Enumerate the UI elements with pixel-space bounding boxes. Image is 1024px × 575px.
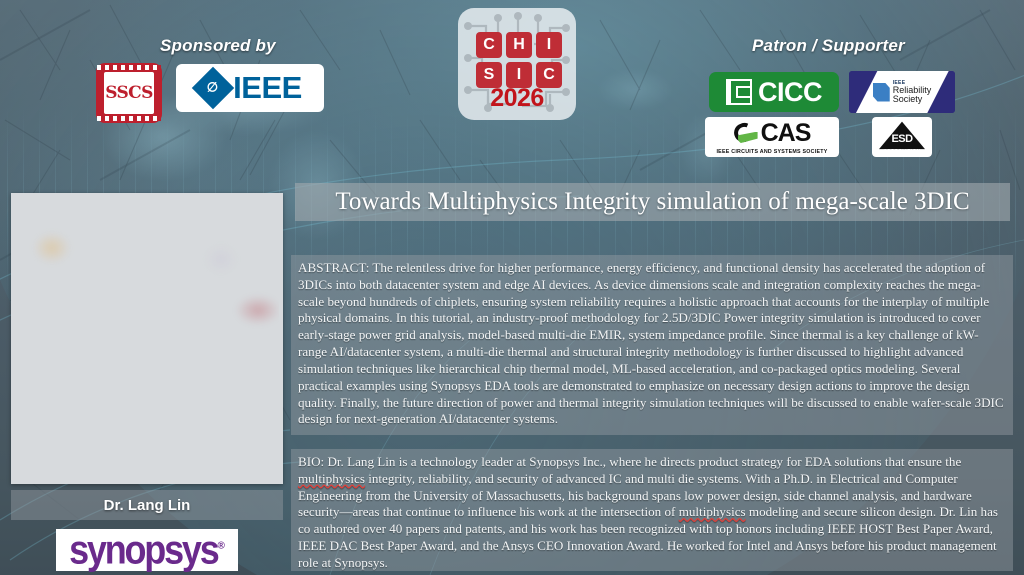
reliability-mark-icon	[873, 83, 890, 102]
abstract-label: ABSTRACT:	[298, 260, 369, 275]
sscs-logo-text: SSCS	[105, 83, 153, 103]
cas-logo-subtitle: IEEE CIRCUITS AND SYSTEMS SOCIETY	[716, 149, 827, 155]
reliability-line2: Society	[893, 95, 932, 104]
ieee-cas-logo[interactable]: CAS IEEE CIRCUITS AND SYSTEMS SOCIETY	[705, 117, 839, 157]
talk-title-bar: Towards Multiphysics Integrity simulatio…	[295, 183, 1010, 221]
esd-logo-text: ESD	[879, 133, 925, 145]
speaker-photo-frame	[11, 193, 283, 484]
speaker-name: Dr. Lang Lin	[104, 497, 191, 514]
reliability-logo-body: IEEE Reliability Society	[873, 81, 932, 104]
sponsored-by-label: Sponsored by	[160, 36, 276, 56]
poster-header: Sponsored by Patron / Supporter SSCS ∅ I…	[0, 0, 1024, 175]
esd-logo-subtitle: ASSOCIATION	[879, 148, 925, 153]
abstract-panel: ABSTRACT: The relentless drive for highe…	[291, 255, 1013, 435]
chisic-event-logo[interactable]: C H I S I C 2026	[458, 8, 576, 120]
sscs-inner: SSCS	[104, 72, 154, 114]
ieee-logo-text: IEEE	[233, 70, 302, 106]
synopsys-logo[interactable]: synopsys®	[56, 529, 238, 571]
bio-panel: BIO: Dr. Lang Lin is a technology leader…	[291, 449, 1013, 571]
synopsys-logo-text: synopsys	[69, 526, 217, 572]
cas-mark-icon	[734, 123, 758, 145]
chisic-letter: I	[536, 32, 562, 58]
conference-talk-poster: Sponsored by Patron / Supporter SSCS ∅ I…	[0, 0, 1024, 575]
speaker-nameplate: Dr. Lang Lin	[11, 490, 283, 520]
abstract-body: The relentless drive for higher performa…	[298, 260, 1004, 426]
cicc-logo-text: CICC	[758, 77, 822, 108]
page-title: Towards Multiphysics Integrity simulatio…	[335, 188, 969, 216]
sscs-logo[interactable]: SSCS	[95, 62, 163, 124]
chisic-letter: C	[476, 32, 502, 58]
chisic-letter-grid: C H I S I C	[476, 32, 562, 88]
esd-triangle-icon: ESD ASSOCIATION	[879, 121, 925, 153]
esd-association-logo[interactable]: ESD ASSOCIATION	[872, 117, 932, 157]
spellcheck-flagged-word: multiphysics	[298, 471, 365, 486]
chisic-letter: H	[506, 32, 532, 58]
registered-trademark-icon: ®	[218, 541, 225, 552]
cas-logo-text: CAS	[761, 119, 811, 148]
spellcheck-flagged-word: multiphysics	[679, 504, 746, 519]
cicc-logo[interactable]: CICC	[709, 72, 839, 112]
cicc-mark-icon	[726, 79, 752, 105]
ieee-diamond-icon: ∅	[192, 67, 234, 109]
speaker-portrait	[15, 197, 279, 480]
bio-label: BIO:	[298, 454, 324, 469]
patron-supporter-label: Patron / Supporter	[752, 36, 905, 56]
event-year: 2026	[458, 84, 576, 113]
bio-text-part1: Dr. Lang Lin is a technology leader at S…	[324, 454, 961, 469]
reliability-logo-text: IEEE Reliability Society	[893, 81, 932, 104]
ieee-logo[interactable]: ∅ IEEE	[176, 64, 324, 112]
ieee-reliability-society-logo[interactable]: IEEE Reliability Society	[849, 71, 955, 113]
cas-logo-row: CAS	[734, 119, 811, 148]
sscs-frame: SSCS	[96, 63, 162, 123]
